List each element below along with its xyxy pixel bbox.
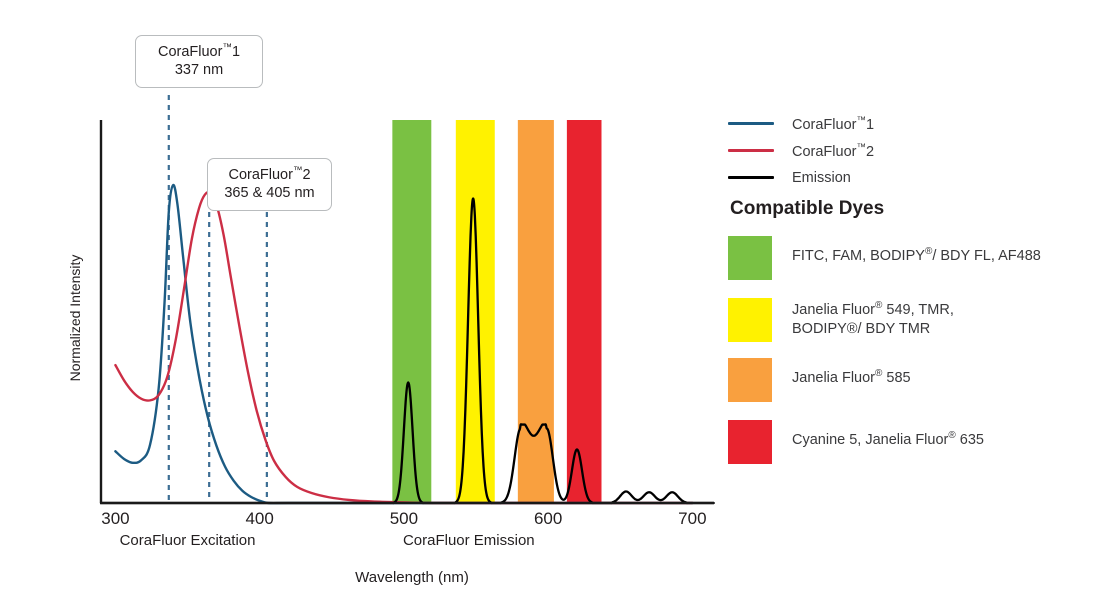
dye-label: FITC, FAM, BODIPY®/ BDY FL, AF488 [792, 236, 1041, 266]
dye-row-4: Cyanine 5, Janelia Fluor® 635 [728, 420, 1108, 464]
legend-line-swatch [728, 122, 774, 125]
fluorescence-spectra-figure: 300400500600700CoraFluor ExcitationCoraF… [0, 0, 1110, 612]
dye-label: Janelia Fluor® 549, TMR,BODIPY®/ BDY TMR [792, 298, 954, 340]
dye-color-swatch [728, 236, 772, 280]
dye-row-2: Janelia Fluor® 549, TMR,BODIPY®/ BDY TMR [728, 298, 1108, 342]
callout-cf2-line1: CoraFluor™2 [228, 167, 310, 183]
dye-label: Janelia Fluor® 585 [792, 358, 911, 388]
dye-row-3: Janelia Fluor® 585 [728, 358, 1108, 402]
compatible-dyes-list: FITC, FAM, BODIPY®/ BDY FL, AF488Janelia… [728, 236, 1108, 464]
legend-item-label: CoraFluor™1 [792, 115, 874, 133]
y-axis-title: Normalized Intensity [67, 255, 83, 382]
x-tick-label-400: 400 [245, 509, 273, 528]
axis-sublabel-emission: CoraFluor Emission [403, 532, 535, 549]
legend-item-label: CoraFluor™2 [792, 142, 874, 160]
callout-corafluor2: CoraFluor™2 365 & 405 nm [207, 158, 332, 211]
callout-cf1-line2: 337 nm [148, 61, 250, 80]
callout-cf1-line1: CoraFluor™1 [158, 44, 240, 60]
x-tick-label-700: 700 [678, 509, 706, 528]
x-tick-label-500: 500 [390, 509, 418, 528]
dye-row-1: FITC, FAM, BODIPY®/ BDY FL, AF488 [728, 236, 1108, 280]
x-tick-label-300: 300 [101, 509, 129, 528]
legend-line-swatch [728, 176, 774, 179]
legend-item-2: CoraFluor™2 [728, 137, 1098, 164]
dye-color-swatch [728, 420, 772, 464]
legend-item-label: Emission [792, 170, 851, 186]
legend-line-swatch [728, 149, 774, 152]
axis-sublabel-excitation: CoraFluor Excitation [120, 532, 256, 549]
dye-color-swatch [728, 298, 772, 342]
dye-color-swatch [728, 358, 772, 402]
callout-corafluor1: CoraFluor™1 337 nm [135, 35, 263, 88]
emission-band-4 [567, 120, 602, 503]
emission-band-3 [518, 120, 554, 503]
emission-band-1 [392, 120, 431, 503]
compatible-dyes-legend: Compatible Dyes FITC, FAM, BODIPY®/ BDY … [728, 198, 1108, 482]
legend-item-3: Emission [728, 164, 1098, 191]
legend-item-1: CoraFluor™1 [728, 110, 1098, 137]
dye-label: Cyanine 5, Janelia Fluor® 635 [792, 420, 984, 450]
emission-band-2 [456, 120, 495, 503]
x-tick-label-600: 600 [534, 509, 562, 528]
compatible-dyes-title: Compatible Dyes [730, 198, 1108, 220]
series-legend: CoraFluor™1CoraFluor™2Emission [728, 110, 1098, 191]
x-axis-title: Wavelength (nm) [355, 569, 469, 586]
callout-cf2-line2: 365 & 405 nm [220, 184, 319, 203]
